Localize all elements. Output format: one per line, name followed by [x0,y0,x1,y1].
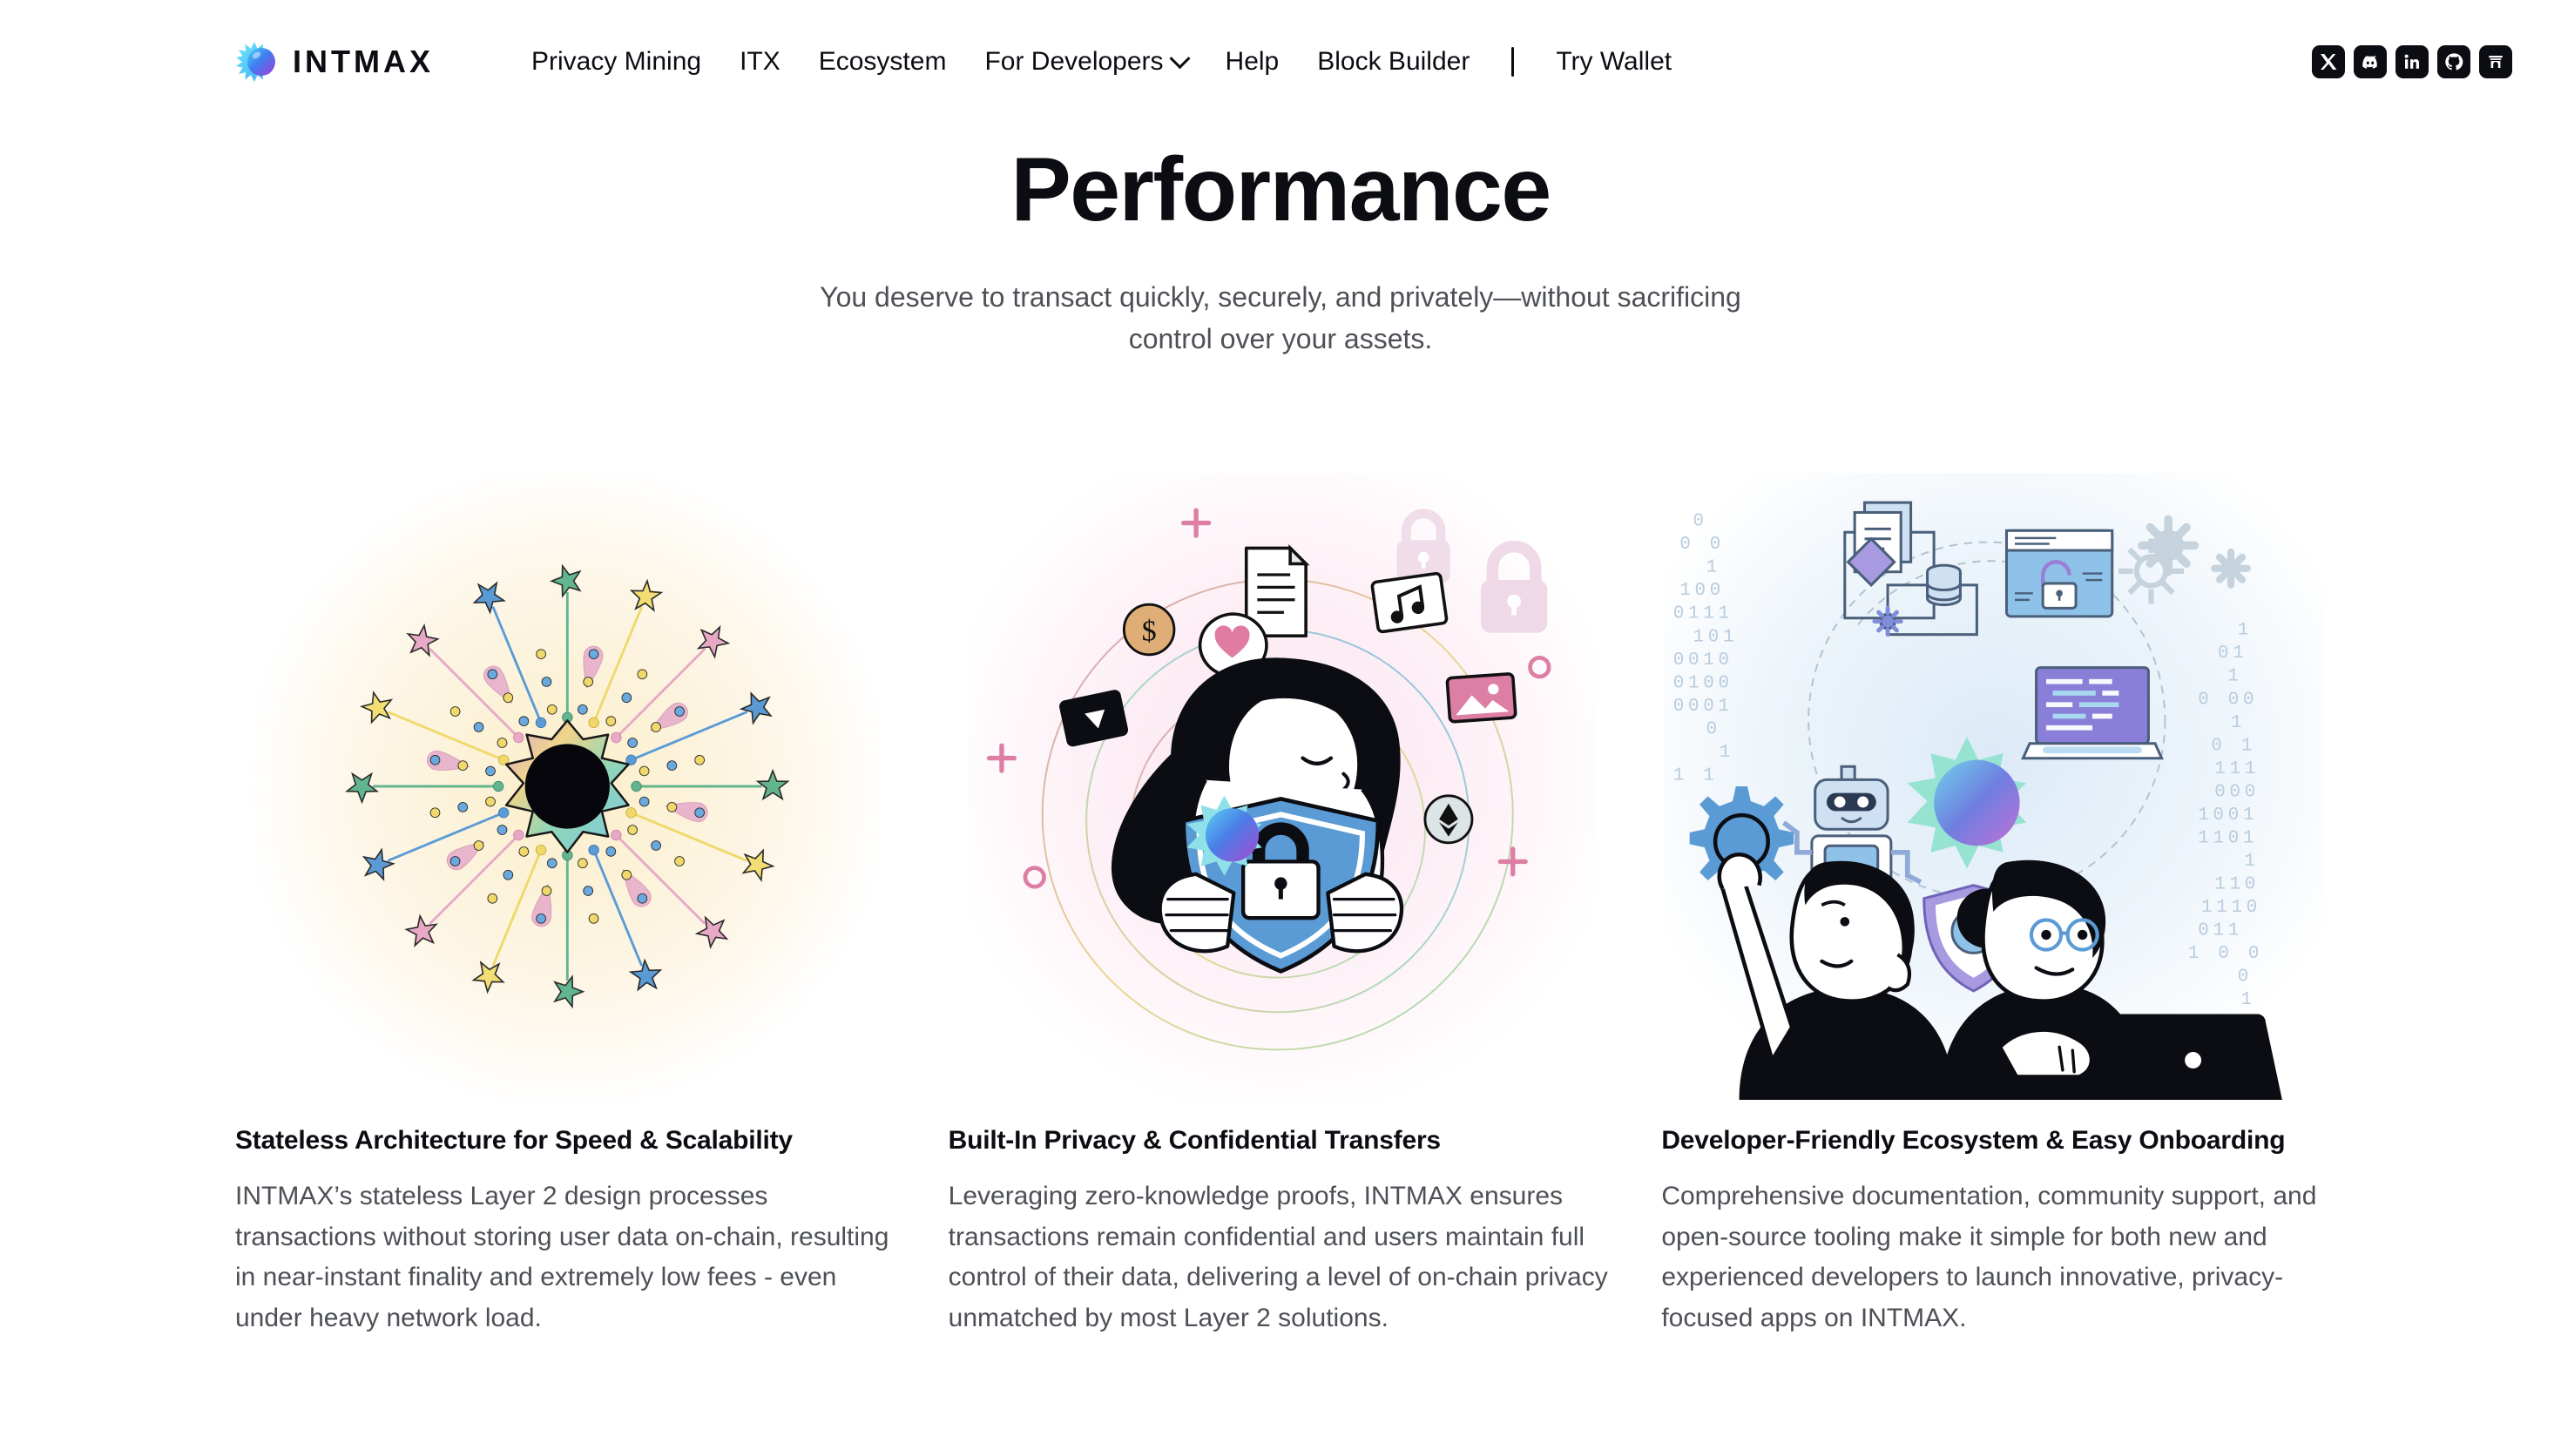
nav-label: Privacy Mining [531,47,701,77]
nav-label: Block Builder [1317,47,1470,77]
card-body: Leveraging zero-knowledge proofs, INTMAX… [949,1176,1613,1338]
ethereum-coin-icon [1425,796,1472,843]
svg-text:1: 1 [1720,743,1734,763]
hero-section: Performance You deserve to transact quic… [0,124,2561,360]
torii-gate-icon [2485,51,2506,72]
svg-text:110: 110 [2215,875,2260,895]
github-icon [2443,51,2464,72]
svg-text:1110: 1110 [2201,898,2261,918]
nav-label: For Developers [984,47,1163,77]
nav-item-help[interactable]: Help [1206,47,1299,77]
svg-text:011: 011 [2199,921,2244,941]
svg-text:111: 111 [2215,759,2260,779]
svg-text:000: 000 [2215,783,2260,803]
music-note-icon [1371,573,1446,632]
feature-cards: Stateless Architecture for Speed & Scala… [0,473,2561,1338]
card-title: Developer-Friendly Ecosystem & Easy Onbo… [1661,1126,2326,1156]
chevron-down-icon [1169,48,1190,69]
svg-text:1 1: 1 1 [1673,766,1719,786]
svg-text:1: 1 [2228,667,2243,687]
privacy-art-svg: $ [949,473,1613,1100]
feature-card: $ [949,473,1613,1338]
main-nav: Privacy Mining ITX Ecosystem For Develop… [531,47,1691,77]
dollar-coin-icon: $ [1124,604,1174,655]
social-links [2312,45,2512,78]
svg-text:1101: 1101 [2199,829,2259,849]
nav-item-block-builder[interactable]: Block Builder [1298,47,1489,77]
discord-icon-link[interactable] [2354,45,2387,78]
nav-divider [1511,47,1514,77]
discord-icon [2360,51,2381,72]
site-header: INTMAX Privacy Mining ITX Ecosystem For … [0,0,2561,124]
github-icon-link[interactable] [2437,45,2470,78]
developers-art-svg: 00 01 1000111101 001001000001 011 1 1011… [1661,473,2326,1100]
nav-label: ITX [740,47,780,77]
developers-ecosystem-illustration: 00 01 1000111101 001001000001 011 1 1011… [1661,473,2326,1100]
nav-item-itx[interactable]: ITX [720,47,800,77]
svg-text:1: 1 [2232,713,2247,733]
starburst-art-svg [235,473,900,1100]
page-subtitle: You deserve to transact quickly, securel… [801,277,1760,360]
feature-card: Stateless Architecture for Speed & Scala… [235,473,900,1338]
svg-text:$: $ [1141,616,1156,648]
laptop-code-icon [2024,668,2162,758]
linkedin-icon-link[interactable] [2395,45,2429,78]
x-twitter-icon [2318,51,2339,72]
svg-text:0 0: 0 0 [1680,535,1726,555]
card-body: Comprehensive documentation, community s… [1661,1176,2326,1338]
svg-text:1: 1 [1706,558,1721,578]
svg-text:0: 0 [2238,967,2253,988]
nav-label: Ecosystem [819,47,947,77]
svg-text:100: 100 [1680,581,1726,601]
svg-text:1001: 1001 [2199,806,2259,826]
nav-item-privacy-mining[interactable]: Privacy Mining [531,47,720,77]
svg-text:1: 1 [2238,621,2253,641]
x-twitter-icon-link[interactable] [2312,45,2345,78]
svg-text:0010: 0010 [1673,650,1733,671]
page-title: Performance [0,139,2561,240]
svg-text:01: 01 [2218,644,2247,664]
starburst-fireworks-illustration [235,473,900,1100]
svg-text:0: 0 [1706,720,1721,740]
try-wallet-label: Try Wallet [1556,47,1672,77]
svg-text:1: 1 [2245,852,2260,872]
browser-lock-icon [2007,531,2112,617]
svg-text:0: 0 [1693,512,1708,532]
intmax-starburst-sphere-logo-icon [235,39,280,84]
nav-item-for-developers[interactable]: For Developers [965,47,1206,77]
nav-item-ecosystem[interactable]: Ecosystem [800,47,966,77]
card-title: Built-In Privacy & Confidential Transfer… [949,1126,1613,1156]
torii-gate-icon-link[interactable] [2479,45,2512,78]
svg-text:1: 1 [2241,990,2256,1010]
card-title: Stateless Architecture for Speed & Scala… [235,1126,900,1156]
svg-text:0111: 0111 [1673,604,1733,624]
svg-text:1 0 0: 1 0 0 [2188,944,2263,964]
nav-label: Help [1226,47,1280,77]
brand-logo-link[interactable]: INTMAX [235,39,434,84]
svg-text:101: 101 [1693,627,1739,647]
linkedin-icon [2402,51,2422,72]
try-wallet-button[interactable]: Try Wallet [1537,47,1691,77]
brand-name: INTMAX [293,44,434,80]
feature-card: 00 01 1000111101 001001000001 011 1 1011… [1661,473,2326,1338]
svg-text:0 00: 0 00 [2199,690,2259,710]
svg-text:0 1: 0 1 [2212,737,2257,757]
svg-text:0001: 0001 [1673,697,1733,717]
privacy-shield-woman-illustration: $ [949,473,1613,1100]
card-body: INTMAX’s stateless Layer 2 design proces… [235,1176,900,1338]
image-icon [1447,674,1516,723]
svg-text:0100: 0100 [1673,674,1733,694]
